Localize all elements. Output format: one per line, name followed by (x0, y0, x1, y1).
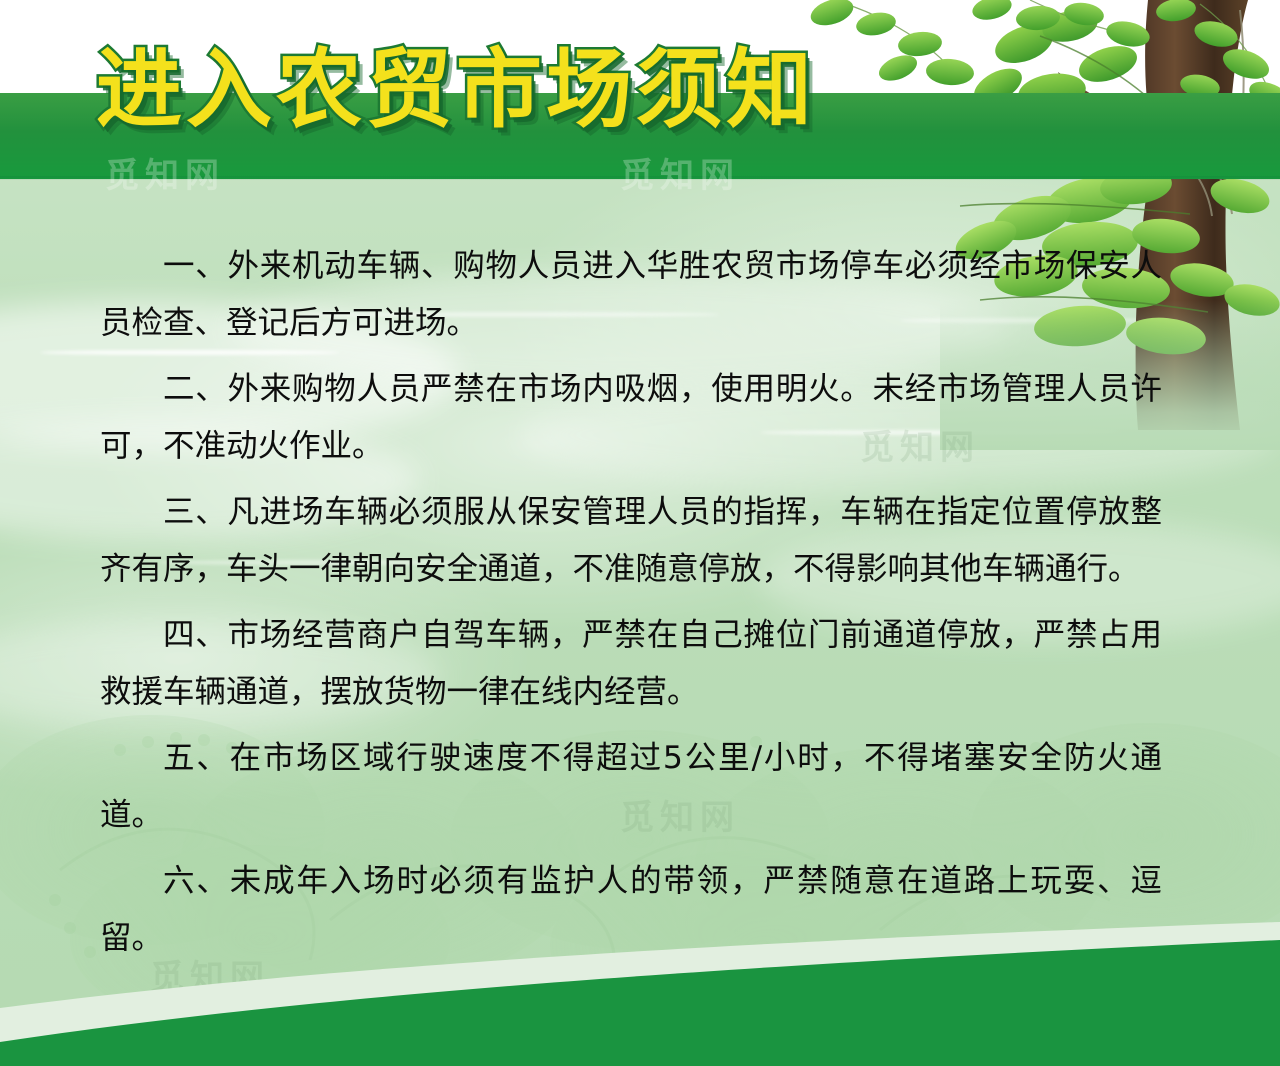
page-title: 进入农贸市场须知 (96, 42, 816, 138)
rule-item: 六、未成年入场时必须有监护人的带领，严禁随意在道路上玩耍、逗留。 (100, 853, 1162, 967)
rule-item: 三、凡进场车辆必须服从保安管理人员的指挥，车辆在指定位置停放整齐有序，车头一律朝… (100, 484, 1162, 598)
header-band-edge (0, 176, 1280, 180)
rules-list: 一、外来机动车辆、购物人员进入华胜农贸市场停车必须经市场保安人员检查、登记后方可… (100, 238, 1162, 976)
rule-item: 一、外来机动车辆、购物人员进入华胜农贸市场停车必须经市场保安人员检查、登记后方可… (100, 238, 1162, 352)
rule-item: 四、市场经营商户自驾车辆，严禁在自己摊位门前通道停放，严禁占用救援车辆通道，摆放… (100, 607, 1162, 721)
rule-item: 二、外来购物人员严禁在市场内吸烟，使用明火。未经市场管理人员许可，不准动火作业。 (100, 361, 1162, 475)
poster-canvas: 觅知网 觅知网 觅知网 觅知网 觅知网 进入农贸市场须知 一、外来机动车辆、购物… (0, 0, 1280, 1066)
rule-item: 五、在市场区域行驶速度不得超过5公里/小时，不得堵塞安全防火通道。 (100, 730, 1162, 844)
